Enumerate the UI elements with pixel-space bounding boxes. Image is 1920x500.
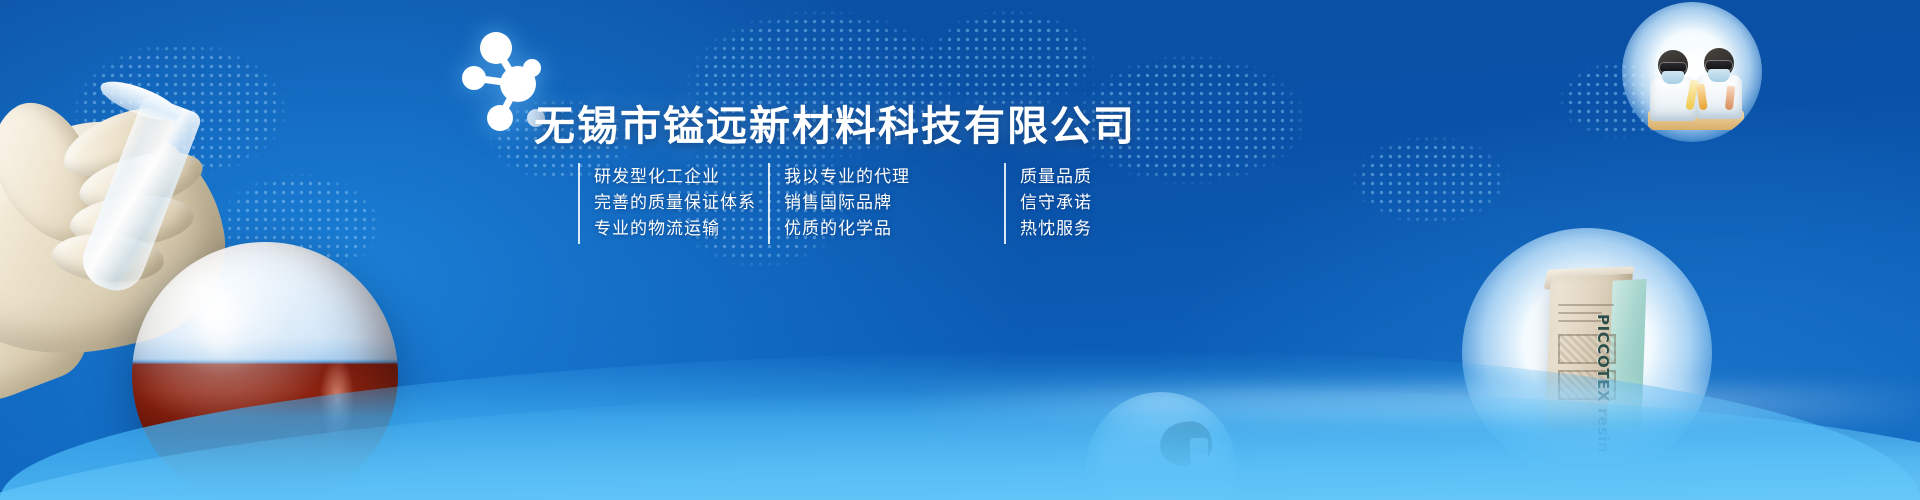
scientist-head xyxy=(1704,48,1734,78)
face-mask-icon xyxy=(1708,69,1730,82)
tagline-line: 专业的物流运输 xyxy=(594,217,728,243)
page-title: 无锡市镒远新材料科技有限公司 xyxy=(534,92,1136,152)
tagline-column-1: 研发型化工企业 完善的质量保证体系 专业的物流运输 xyxy=(578,163,728,244)
face-mask-icon xyxy=(1662,71,1684,84)
scientist-head xyxy=(1658,50,1688,80)
scientists-photo xyxy=(1622,2,1762,142)
tagline-column-3: 质量品质 信守承诺 热忱服务 xyxy=(1004,163,1124,244)
orb-content xyxy=(1622,2,1762,142)
tagline-line: 研发型化工企业 xyxy=(594,165,728,191)
tagline-line: 完善的质量保证体系 xyxy=(594,191,728,217)
bag-print-line xyxy=(1558,304,1614,306)
tagline-line: 质量品质 xyxy=(1020,165,1124,191)
tagline-line: 我以专业的代理 xyxy=(784,165,908,191)
company-banner: 无锡市镒远新材料科技有限公司 研发型化工企业 完善的质量保证体系 专业的物流运输… xyxy=(0,0,1920,500)
tagline-line: 销售国际品牌 xyxy=(784,191,908,217)
tagline-line: 热忱服务 xyxy=(1020,217,1124,243)
tagline-column-2: 我以专业的代理 销售国际品牌 优质的化学品 xyxy=(768,163,908,244)
taglines: 研发型化工企业 完善的质量保证体系 专业的物流运输 我以专业的代理 销售国际品牌… xyxy=(578,163,1124,244)
tagline-line: 信守承诺 xyxy=(1020,191,1124,217)
tagline-line: 优质的化学品 xyxy=(784,217,908,243)
